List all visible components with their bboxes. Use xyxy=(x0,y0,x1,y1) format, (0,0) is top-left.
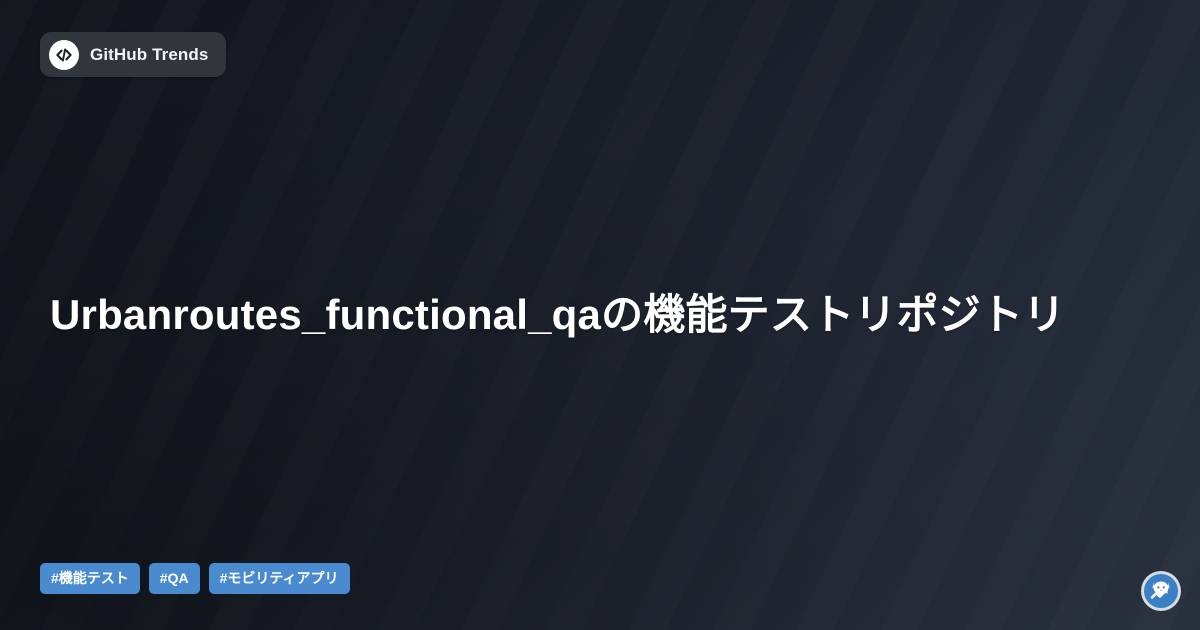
tag-item[interactable]: #モビリティアプリ xyxy=(209,563,350,594)
tag-item[interactable]: #QA xyxy=(149,563,200,594)
tag-item[interactable]: #機能テスト xyxy=(40,563,140,594)
page-title: Urbanroutes_functional_qaの機能テストリポジトリ xyxy=(50,287,1065,342)
title-container: Urbanroutes_functional_qaの機能テストリポジトリ xyxy=(50,0,1130,630)
cat-trend-logo-icon[interactable] xyxy=(1140,570,1182,612)
og-card: GitHub Trends Urbanroutes_functional_qaの… xyxy=(0,0,1200,630)
tag-list: #機能テスト #QA #モビリティアプリ xyxy=(40,563,350,594)
